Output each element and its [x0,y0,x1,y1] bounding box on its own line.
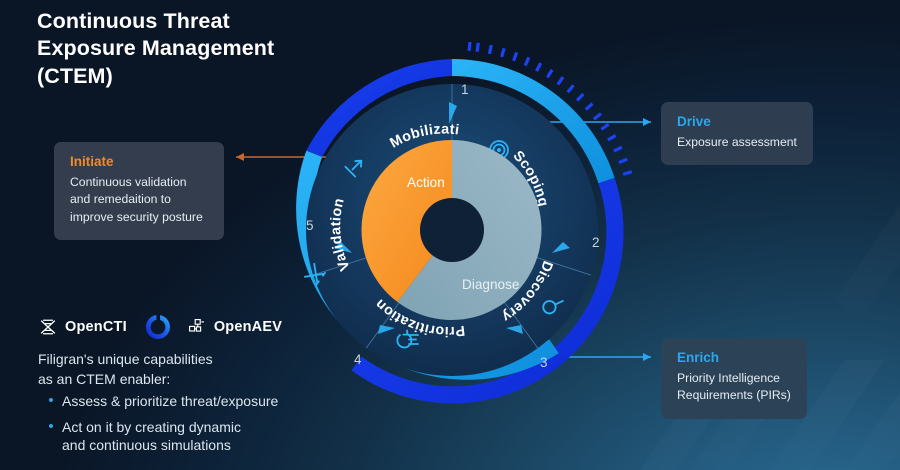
filigran-donut-icon [143,312,173,342]
callout-initiate-body: Continuous validation and remedaition to… [70,174,208,226]
footer-caption-line-2: as an CTEM enabler: [38,370,213,390]
openaev-logo-icon [187,317,207,337]
ctem-cycle-wheel: 1 2 3 4 5 Scoping Discovery Prioritizati… [264,42,640,418]
segment-number-5: 5 [306,218,314,233]
callout-drive-body: Exposure assessment [677,134,797,151]
opencti-label: OpenCTI [65,319,127,335]
callout-initiate-heading: Initiate [70,154,208,171]
callout-card-drive[interactable]: Drive Exposure assessment [661,102,813,165]
list-item: • Act on it by creating dynamic and cont… [40,418,278,455]
callout-enrich-body: Priority Intelligence Requirements (PIRs… [677,370,791,405]
footer-caption: Filigran's unique capabilities as an CTE… [38,350,213,390]
product-opencti[interactable]: OpenCTI [38,317,127,337]
callout-drive-heading: Drive [677,114,797,131]
core-label-diagnose: Diagnose [462,277,519,292]
bullet-text-2: Act on it by creating dynamic and contin… [62,418,241,455]
core-donut [361,140,541,320]
bullet-text-2-line-2: and continuous simulations [62,437,231,453]
product-openaev[interactable]: OpenAEV [187,317,282,337]
core-label-action: Action [407,175,445,190]
core-hole [420,198,484,262]
bullet-text-2-line-1: Act on it by creating dynamic [62,419,241,435]
bullet-dot-icon: • [40,418,62,437]
page-title-line-1: Continuous Threat [37,8,367,35]
callout-enrich-heading: Enrich [677,350,791,367]
segment-number-3: 3 [540,355,548,370]
infographic-canvas: Continuous Threat Exposure Management (C… [0,0,900,470]
product-logos-row: OpenCTI [38,312,282,342]
callout-card-initiate[interactable]: Initiate Continuous validation and remed… [54,142,224,240]
callout-card-enrich[interactable]: Enrich Priority Intelligence Requirement… [661,338,807,419]
openaev-label: OpenAEV [214,319,282,335]
segment-number-4: 4 [354,352,362,367]
opencti-logo-icon [38,317,58,337]
footer-caption-line-1: Filigran's unique capabilities [38,350,213,370]
bullet-dot-icon: • [40,392,62,411]
footer-bullet-list: • Assess & prioritize threat/exposure • … [40,392,278,462]
segment-number-2: 2 [592,235,600,250]
bullet-text-1: Assess & prioritize threat/exposure [62,392,278,410]
list-item: • Assess & prioritize threat/exposure [40,392,278,411]
segment-number-1: 1 [461,82,469,97]
